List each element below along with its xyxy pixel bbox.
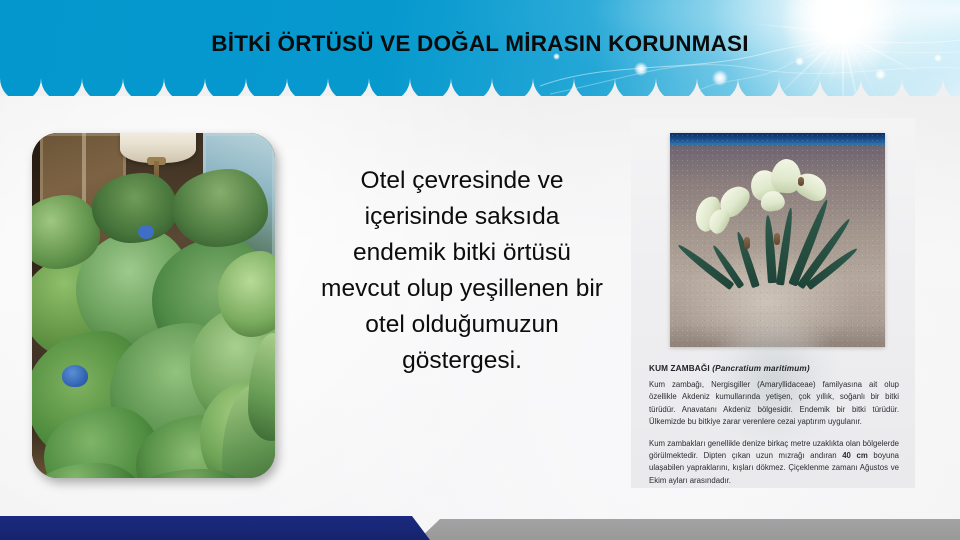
sand-lily-plant [670,133,885,347]
blue-flower [62,365,88,387]
caption-p2-bold: 40 cm [842,451,868,460]
caption-heading-name: KUM ZAMBAĞI [649,364,710,373]
sand-lily-photo [670,133,885,347]
body-paragraph: Otel çevresinde ve içerisinde saksıda en… [318,163,606,379]
scalloped-edge-decoration [0,71,960,96]
page-title: BİTKİ ÖRTÜSÜ VE DOĞAL MİRASIN KORUNMASI [0,31,960,57]
caption-paragraph-1: Kum zambağı, Nergisgiller (Amaryllidacea… [649,379,899,429]
caption-block: KUM ZAMBAĞI (Pancratium maritimum) Kum z… [649,364,899,488]
footer-bar-gray [418,519,960,540]
indoor-plants-photo [32,133,275,478]
footer-bars [0,516,960,540]
caption-paragraph-2: Kum zambakları genellikle denize birkaç … [649,438,899,488]
sparkle-icon [712,70,728,86]
footer-bar-blue [0,516,430,540]
foliage-group [32,133,275,478]
info-panel: KUM ZAMBAĞI (Pancratium maritimum) Kum z… [631,118,915,488]
caption-heading: KUM ZAMBAĞI (Pancratium maritimum) [649,364,899,373]
sparkle-icon [875,69,886,80]
caption-heading-latin: (Pancratium maritimum) [712,364,809,373]
sparkle-icon [634,62,648,76]
slide: BİTKİ ÖRTÜSÜ VE DOĞAL MİRASIN KORUNMASI [0,0,960,540]
blue-ornament [138,225,154,239]
sparkle-icon [795,57,804,66]
